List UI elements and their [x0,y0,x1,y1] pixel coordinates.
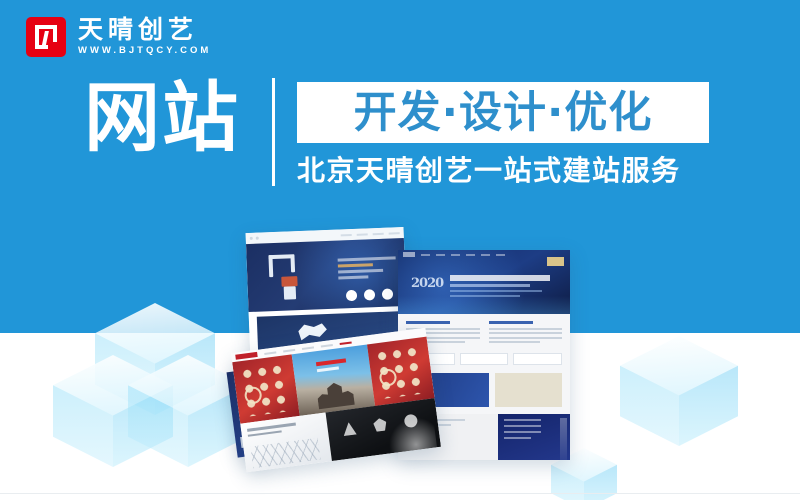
cube-right-large [620,336,738,446]
headline-chip: 开发·设计·优化 [297,82,709,143]
brand-website: WWW.BJTQCY.COM [78,45,211,57]
mockup-hero [246,238,406,312]
brand-logo-text: 天晴创艺 WWW.BJTQCY.COM [78,16,211,57]
sketch-card [240,413,331,473]
mockup-nav [398,250,570,259]
headline-chip-text: 开发·设计·优化 [354,90,653,136]
headline-divider [272,78,275,186]
mockup-badge [547,257,564,266]
website-mockup-collage: 2020 [232,222,584,490]
tianqing-logo-mark-icon [26,17,66,57]
headline-kicker: 网站 [84,76,240,160]
robot-arm-illustration [266,254,312,302]
mockup-traditional-culture-site [231,328,441,473]
brand-logo[interactable]: 天晴创艺 WWW.BJTQCY.COM [26,16,211,57]
temple-photo [292,345,375,416]
mockup-hero: 2020 [398,250,570,314]
headline-subtitle: 北京天晴创艺一站式建站服务 [297,155,681,187]
red-door-image [232,354,300,423]
footer-divider [0,493,800,494]
red-door-image [367,337,435,406]
mockup-year-graphic: 2020 [411,276,443,291]
promo-banner: 天晴创艺 WWW.BJTQCY.COM 网站 开发·设计·优化 北京天晴创艺一站… [0,0,800,500]
brand-name: 天晴创艺 [78,16,211,43]
mockup-hero-copy [338,256,397,282]
mockup-feature-icons [346,288,393,301]
mockup-wave-decor [398,296,570,314]
